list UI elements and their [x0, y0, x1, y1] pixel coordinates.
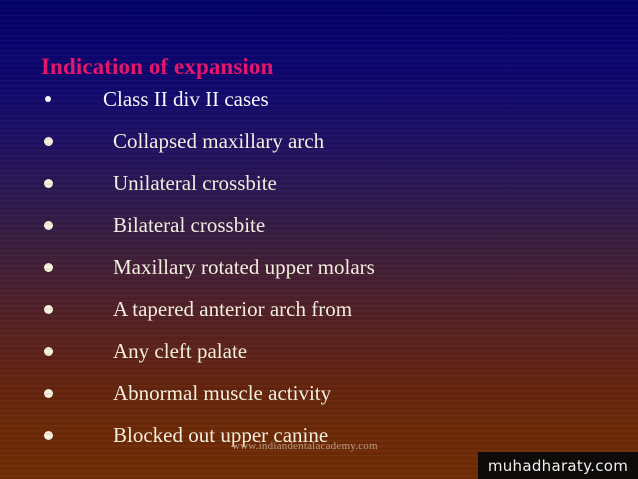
slide-title: Indication of expansion	[41, 54, 273, 80]
bullet-point-icon	[44, 263, 53, 272]
site-watermark: www.indiandentalacademy.com	[232, 440, 378, 452]
bullet-point-icon	[44, 389, 53, 398]
brand-banner-label: muhadharaty.com	[488, 457, 628, 475]
list-item: Abnormal muscle activity	[0, 378, 638, 420]
brand-banner: muhadharaty.com	[478, 452, 638, 479]
list-item-label: Any cleft palate	[113, 341, 247, 362]
bullet-point-icon	[44, 221, 53, 230]
bullet-point-icon	[44, 179, 53, 188]
list-item: Unilateral crossbite	[0, 168, 638, 210]
list-item-label: Collapsed maxillary arch	[113, 131, 324, 152]
list-item: Collapsed maxillary arch	[0, 126, 638, 168]
bullet-point-icon	[44, 137, 53, 146]
bullet-list: Class II div II cases Collapsed maxillar…	[0, 84, 638, 462]
presentation-slide: Indication of expansion Class II div II …	[0, 0, 638, 479]
list-item-label: Bilateral crossbite	[113, 215, 265, 236]
bullet-point-icon	[45, 96, 51, 102]
list-item-label: A tapered anterior arch from	[113, 299, 352, 320]
bullet-point-icon	[44, 431, 53, 440]
bullet-point-icon	[44, 305, 53, 314]
list-item: A tapered anterior arch from	[0, 294, 638, 336]
list-item: Bilateral crossbite	[0, 210, 638, 252]
bullet-point-icon	[44, 347, 53, 356]
list-item: Maxillary rotated upper molars	[0, 252, 638, 294]
list-item-label: Class II div II cases	[103, 89, 269, 110]
list-item: Any cleft palate	[0, 336, 638, 378]
list-item-label: Maxillary rotated upper molars	[113, 257, 375, 278]
list-item-label: Abnormal muscle activity	[113, 383, 331, 404]
list-item: Class II div II cases	[0, 84, 638, 126]
list-item-label: Unilateral crossbite	[113, 173, 277, 194]
